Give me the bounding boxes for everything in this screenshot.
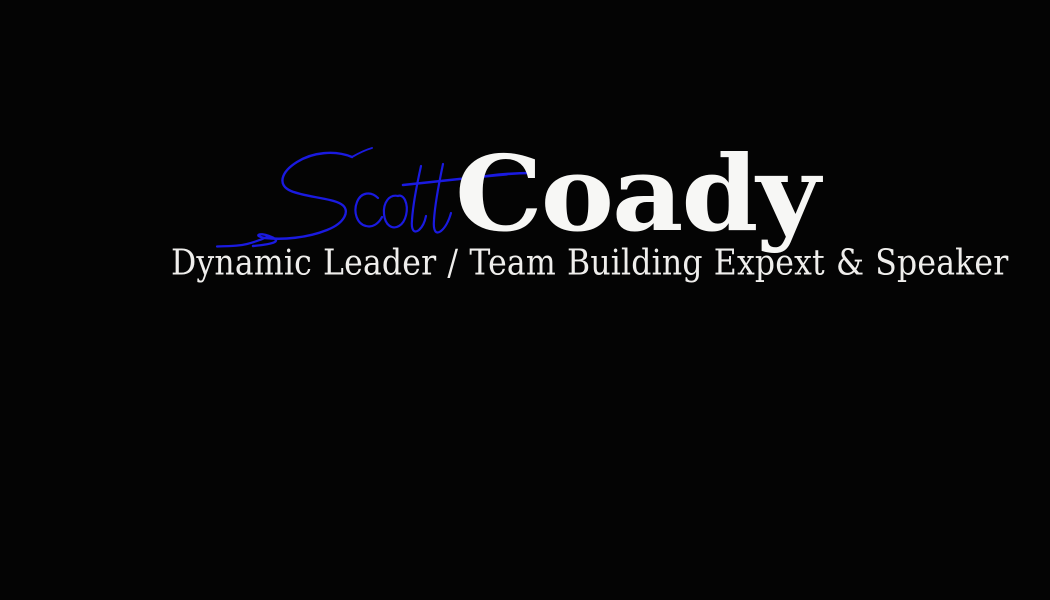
canvas-background: Scott Coady Dynamic Leader / Team Buildi	[0, 0, 1050, 600]
surname-coady: Coady	[455, 142, 818, 246]
tagline: Dynamic Leader / Team Building Expext & …	[171, 246, 1008, 282]
logo-lockup: Scott Coady Dynamic Leader / Team Buildi	[0, 0, 1050, 320]
